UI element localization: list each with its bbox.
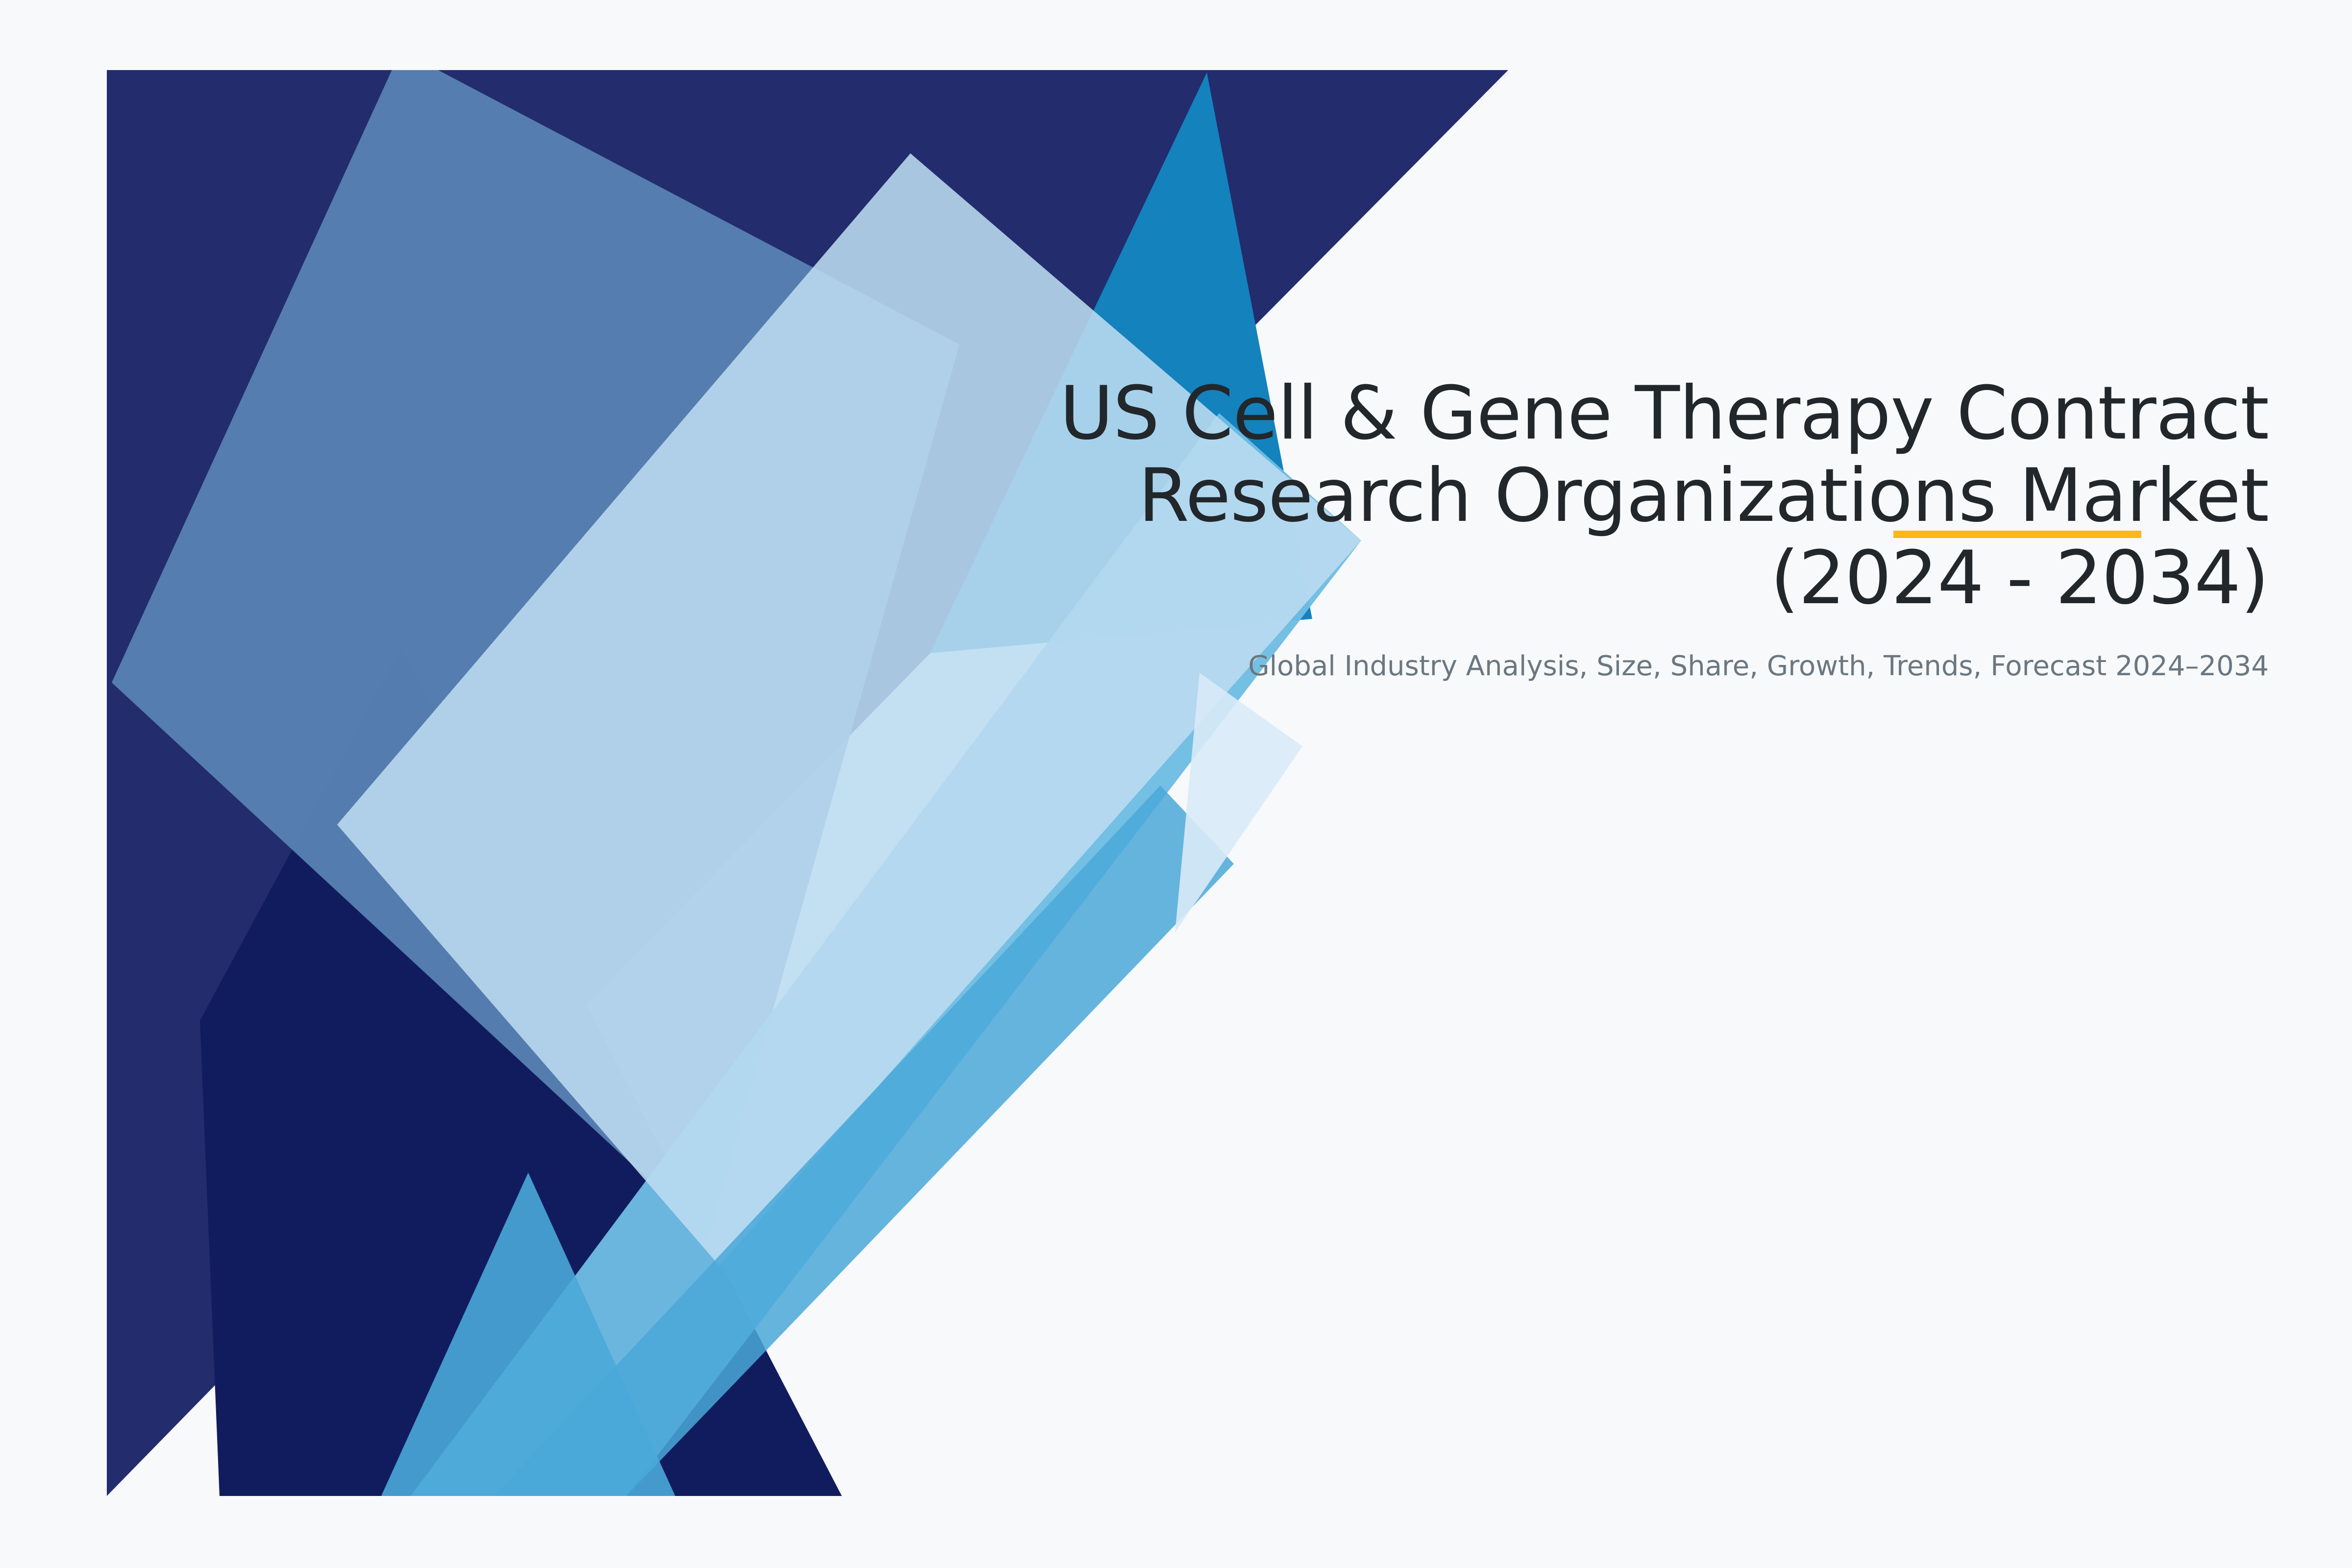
report-cover-page: US Cell & Gene Therapy Contract Research… xyxy=(0,0,2352,1568)
cover-text-block: US Cell & Gene Therapy Contract Research… xyxy=(1014,372,2269,685)
abstract-geometric-cover-graphic xyxy=(107,70,1508,1496)
page-title: US Cell & Gene Therapy Contract Research… xyxy=(1014,372,2269,619)
page-subtitle: Global Industry Analysis, Size, Share, G… xyxy=(1014,619,2269,685)
